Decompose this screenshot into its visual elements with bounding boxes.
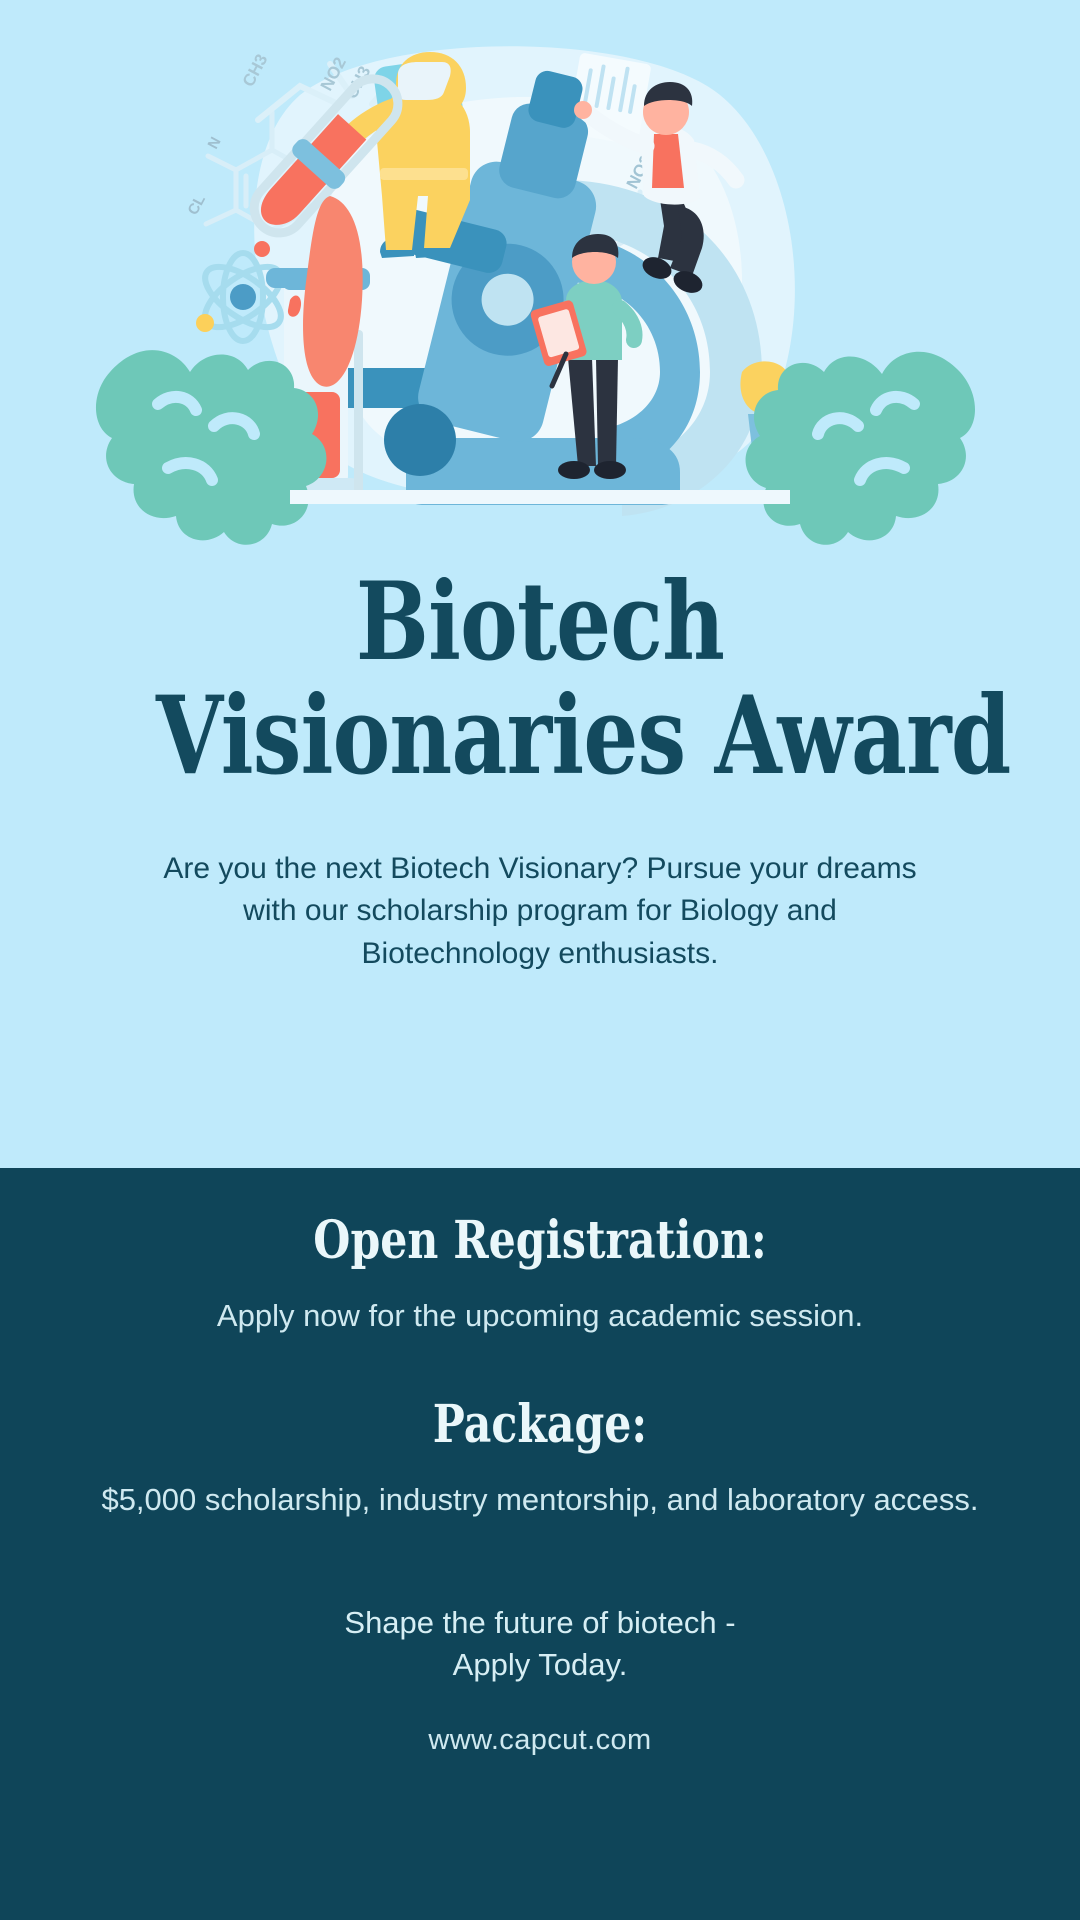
open-registration-heading: Open Registration: xyxy=(146,1212,933,1269)
dot-red-left xyxy=(254,241,270,257)
page-title: Biotech Visionaries Award xyxy=(156,560,924,790)
dot-yellow-left xyxy=(196,314,214,332)
ground-strip xyxy=(290,490,790,504)
package-heading: Package: xyxy=(146,1396,933,1453)
hero-illustration: N CL CH3 CH3 NO2 xyxy=(0,0,1080,560)
headline-section: Biotech Visionaries Award Are you the ne… xyxy=(0,560,1080,1168)
title-line-1: Biotech xyxy=(156,570,924,676)
cta-line-1: Shape the future of biotech - xyxy=(344,1605,735,1640)
poster-canvas: N CL CH3 CH3 NO2 xyxy=(0,0,1080,1920)
title-line-2: Visionaries Award xyxy=(156,684,924,790)
call-to-action: Shape the future of biotech - Apply Toda… xyxy=(60,1522,1020,1686)
cta-line-2: Apply Today. xyxy=(453,1647,628,1682)
thin-glass-tube xyxy=(354,330,363,498)
website-url[interactable]: www.capcut.com xyxy=(60,1686,1020,1757)
microscope-focus-knob xyxy=(384,404,456,476)
details-section: Open Registration: Apply now for the upc… xyxy=(0,1168,1080,1920)
intro-paragraph: Are you the next Biotech Visionary? Purs… xyxy=(60,790,1020,976)
section-open-registration: Open Registration: Apply now for the upc… xyxy=(60,1212,1020,1338)
open-registration-body: Apply now for the upcoming academic sess… xyxy=(60,1269,1020,1338)
package-body: $5,000 scholarship, industry mentorship,… xyxy=(60,1453,1020,1522)
section-package: Package: $5,000 scholarship, industry me… xyxy=(60,1338,1020,1522)
